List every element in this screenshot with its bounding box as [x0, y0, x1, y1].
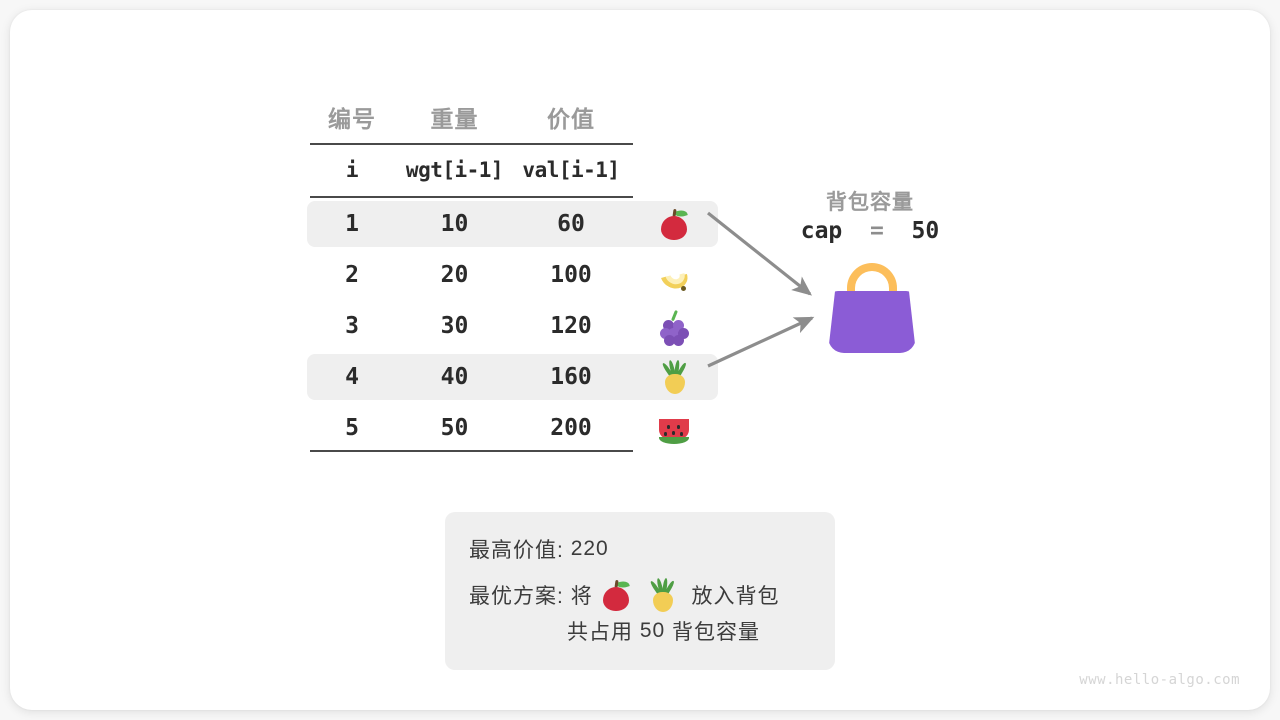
- result-plan-label: 最优方案:: [469, 580, 564, 610]
- cell-value: 160: [512, 364, 630, 390]
- table-row: 1 10 60: [307, 201, 718, 247]
- capacity-equals: =: [870, 218, 884, 244]
- table-rule-top: [310, 143, 633, 145]
- column-header-id: 编号: [307, 100, 397, 134]
- cell-weight: 40: [397, 364, 512, 390]
- table-row: 3 30 120: [307, 303, 718, 349]
- cell-fruit: [630, 360, 718, 394]
- table-subheader-row: i wgt[i-1] val[i-1]: [307, 148, 718, 192]
- capacity-value: cap = 50: [770, 218, 970, 244]
- watermark: www.hello-algo.com: [1079, 672, 1240, 688]
- cell-weight: 20: [397, 262, 512, 288]
- result-max-value: 220: [571, 537, 609, 561]
- cell-value: 60: [512, 211, 630, 237]
- cell-id: 1: [307, 211, 397, 237]
- table-header-row: 编号 重量 价值: [307, 95, 718, 139]
- cell-value: 120: [512, 313, 630, 339]
- cell-id: 3: [307, 313, 397, 339]
- column-header-value: 价值: [512, 100, 630, 134]
- pineapple-icon: [657, 360, 691, 394]
- apple-icon: [657, 207, 691, 241]
- result-plan-line: 最优方案: 将 放入背包: [469, 578, 811, 612]
- result-max-value-line: 最高价值: 220: [469, 534, 811, 564]
- cell-fruit: [630, 411, 718, 445]
- banana-icon: [657, 258, 691, 292]
- illustration-card: 编号 重量 价值 i wgt[i-1] val[i-1] 1 10 60: [10, 10, 1270, 710]
- grapes-icon: [657, 309, 691, 343]
- result-max-value-label: 最高价值:: [469, 534, 564, 564]
- cell-value: 100: [512, 262, 630, 288]
- column-header-weight: 重量: [397, 100, 512, 134]
- table-row: 5 50 200: [307, 405, 718, 451]
- cell-id: 5: [307, 415, 397, 441]
- handbag-icon: [828, 263, 916, 353]
- capacity-number: 50: [912, 218, 940, 244]
- page-background: 编号 重量 价值 i wgt[i-1] val[i-1] 1 10 60: [0, 0, 1280, 720]
- subheader-i: i: [307, 158, 397, 182]
- cell-value: 200: [512, 415, 630, 441]
- cell-fruit: [630, 258, 718, 292]
- cell-id: 2: [307, 262, 397, 288]
- cell-fruit: [630, 309, 718, 343]
- cell-weight: 50: [397, 415, 512, 441]
- handbag-body: [828, 291, 916, 353]
- cell-weight: 30: [397, 313, 512, 339]
- table-row: 2 20 100: [307, 252, 718, 298]
- subheader-wgt: wgt[i-1]: [397, 158, 512, 182]
- table-row: 4 40 160: [307, 354, 718, 400]
- pineapple-icon: [645, 578, 679, 612]
- cell-id: 4: [307, 364, 397, 390]
- cell-fruit: [630, 207, 718, 241]
- result-box: 最高价值: 220 最优方案: 将 放入背包 共占用: [445, 512, 835, 670]
- cell-weight: 10: [397, 211, 512, 237]
- table-rule-middle: [310, 196, 633, 198]
- apple-icon: [599, 578, 633, 612]
- capacity-var: cap: [801, 218, 843, 244]
- arrow-row4-to-bag: [708, 318, 812, 366]
- capacity-label: 背包容量: [770, 186, 970, 216]
- subheader-val: val[i-1]: [512, 158, 630, 182]
- watermelon-icon: [657, 411, 691, 445]
- result-plan-verb: 将: [571, 580, 593, 610]
